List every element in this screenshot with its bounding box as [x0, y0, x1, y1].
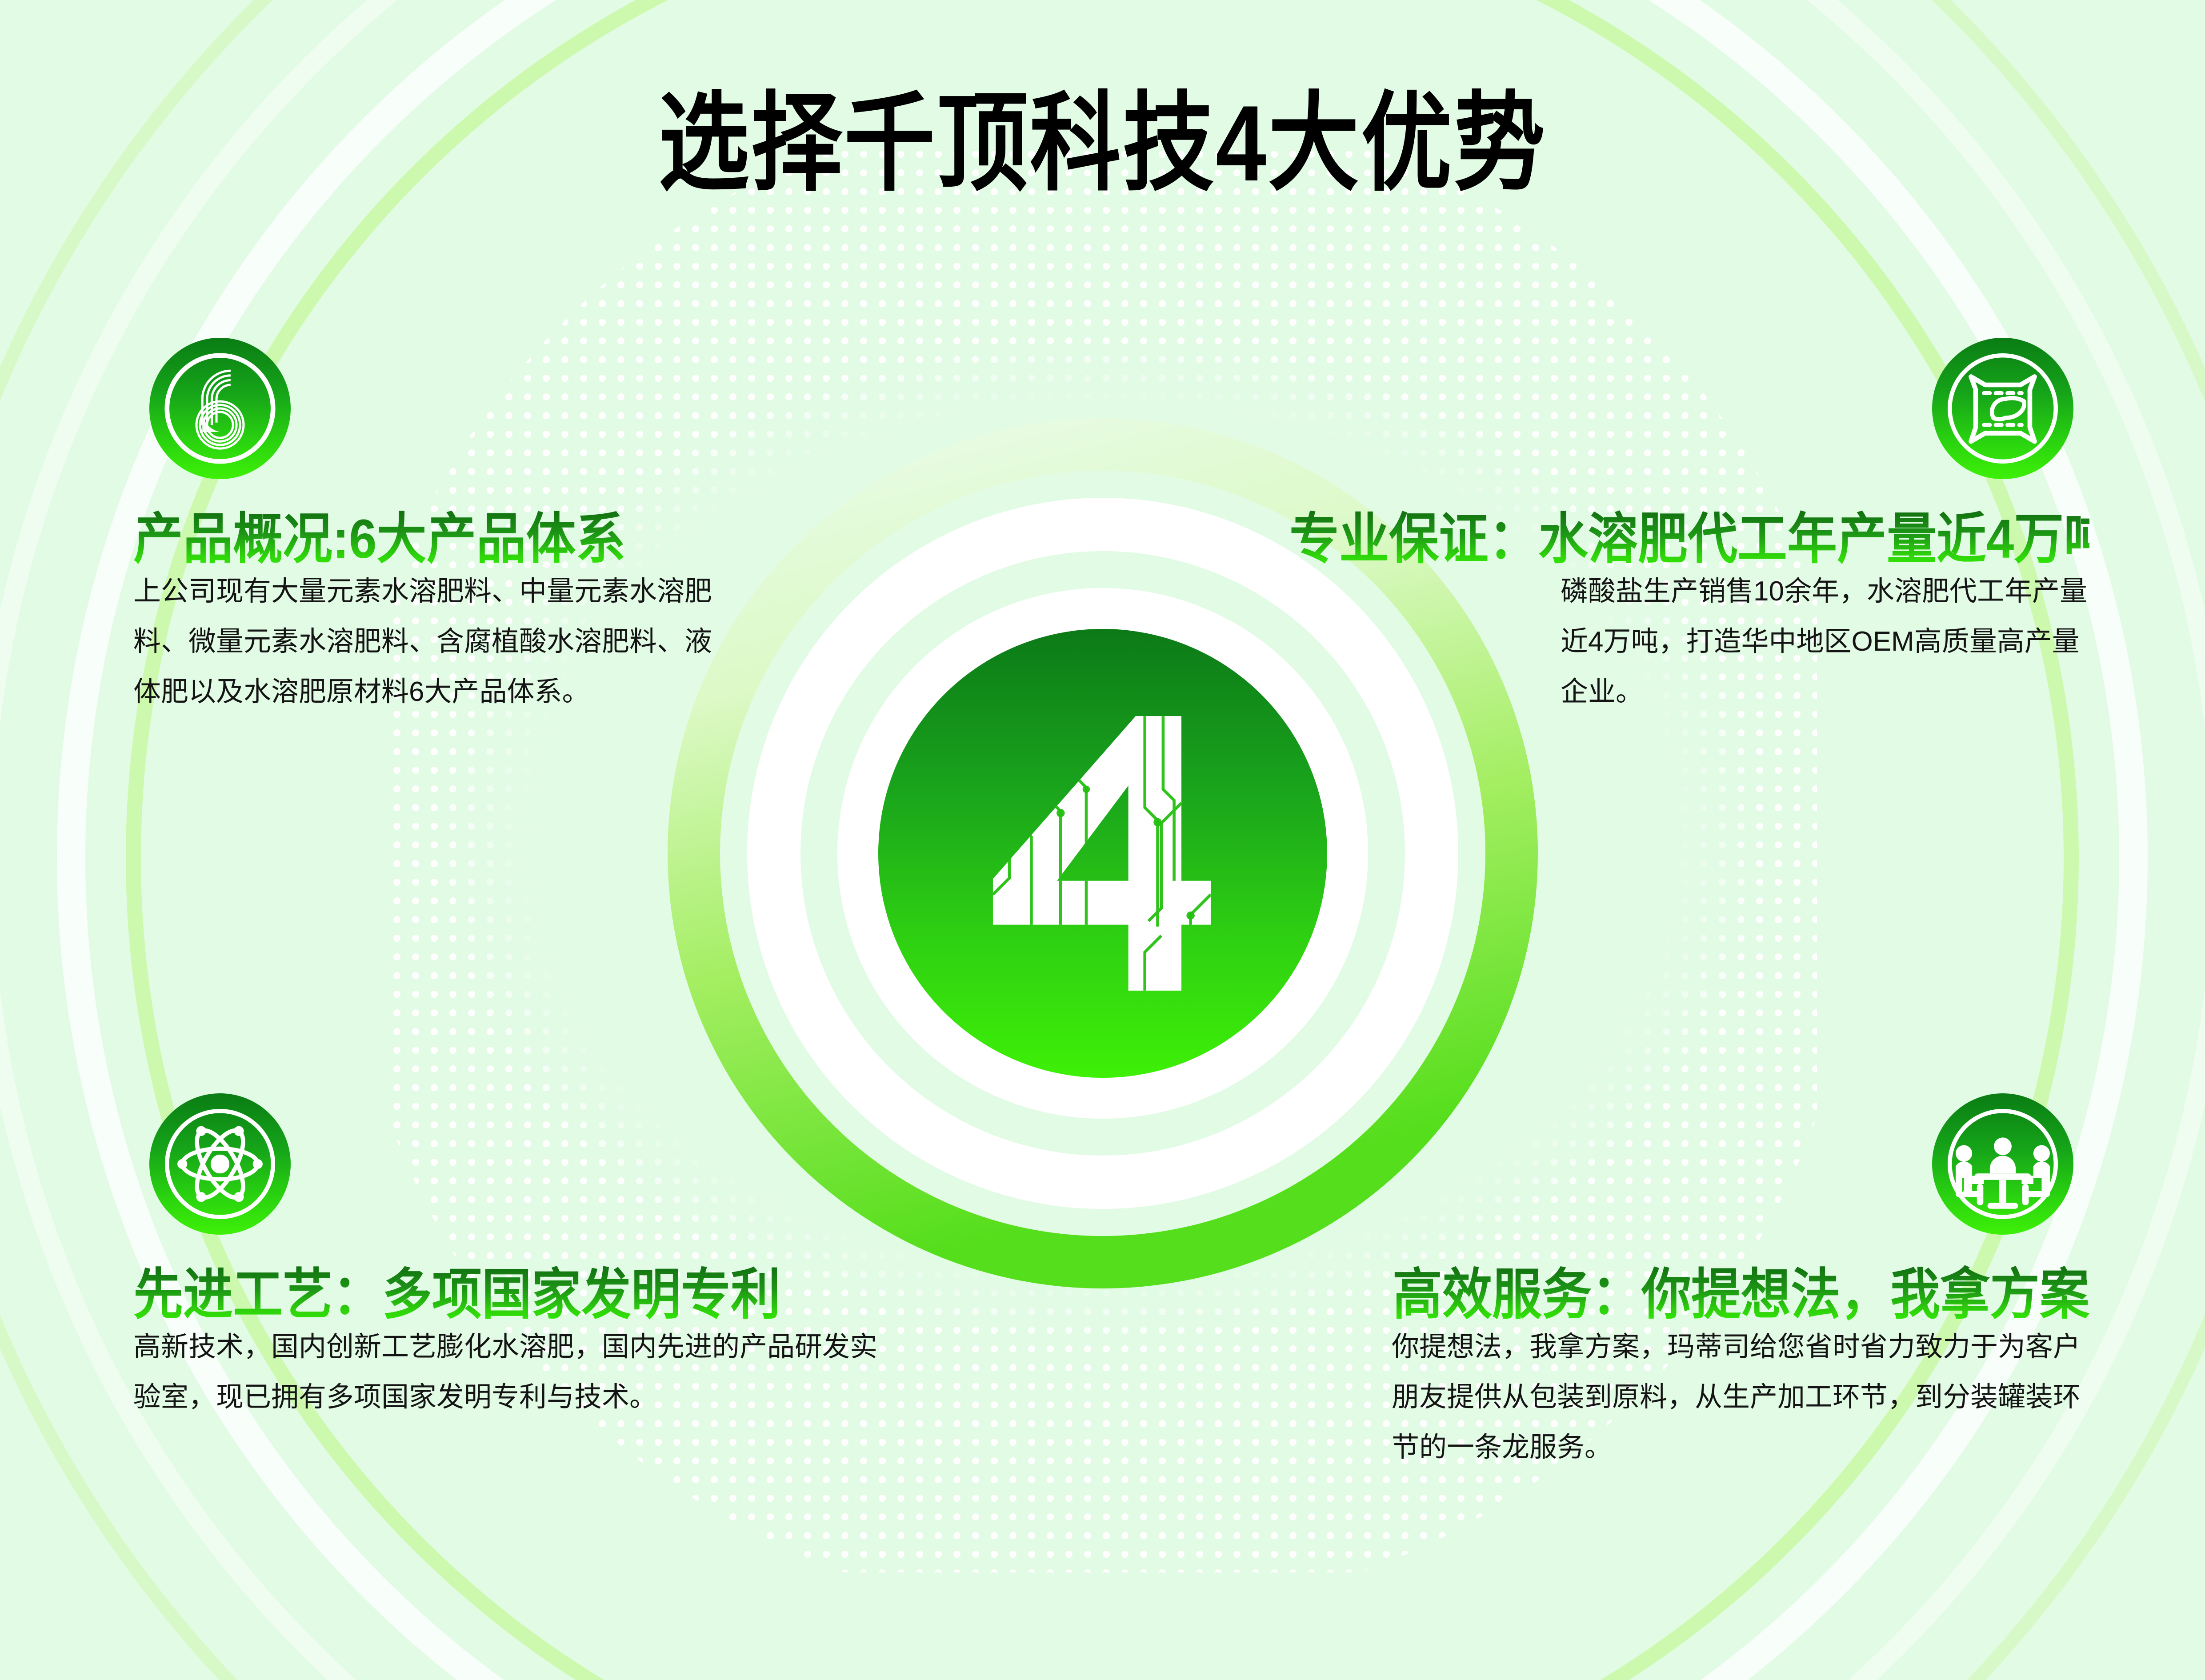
infographic-canvas: 选择千顶科技4大优势: [0, 0, 2205, 1680]
center-number-4-icon: [965, 698, 1241, 1009]
advantage-card-professional-guarantee: 专业保证：水溶肥代工年产量近4万吨 磷酸盐生产销售10余年，水溶肥代工年产量近4…: [1289, 338, 2089, 717]
advantage-body: 磷酸盐生产销售10余年，水溶肥代工年产量近4万吨，打造华中地区OEM高质量高产量…: [1561, 567, 2089, 717]
page-title: 选择千顶科技4大优势: [0, 84, 2205, 203]
number-six-rings-icon: [149, 338, 291, 479]
meeting-table-icon: [1932, 1093, 2073, 1235]
advantage-heading: 先进工艺：多项国家发明专利: [133, 1264, 898, 1325]
advantage-heading: 专业保证：水溶肥代工年产量近4万吨: [1289, 508, 2089, 570]
advantage-card-efficient-service: 高效服务：你提想法，我拿方案 你提想法，我拿方案，玛蒂司给您省时省力致力于为客户…: [1325, 1093, 2089, 1473]
fertilizer-bag-icon: [1932, 338, 2073, 479]
advantage-body: 上公司现有大量元素水溶肥料、中量元素水溶肥料、微量元素水溶肥料、含腐植酸水溶肥料…: [133, 567, 729, 717]
advantage-card-product-overview: 产品概况:6大产品体系 上公司现有大量元素水溶肥料、中量元素水溶肥料、微量元素水…: [133, 338, 729, 717]
advantage-heading: 产品概况:6大产品体系: [133, 508, 729, 570]
center-number-circle: [878, 629, 1327, 1078]
advantage-body: 你提想法，我拿方案，玛蒂司给您省时省力致力于为客户朋友提供从包装到原料，从生产加…: [1392, 1322, 2089, 1472]
atom-icon: [149, 1093, 291, 1235]
advantage-heading: 高效服务：你提想法，我拿方案: [1325, 1264, 2089, 1325]
advantage-body: 高新技术，国内创新工艺膨化水溶肥，国内先进的产品研发实验室，现已拥有多项国家发明…: [133, 1322, 898, 1423]
advantage-card-advanced-technology: 先进工艺：多项国家发明专利 高新技术，国内创新工艺膨化水溶肥，国内先进的产品研发…: [133, 1093, 898, 1423]
